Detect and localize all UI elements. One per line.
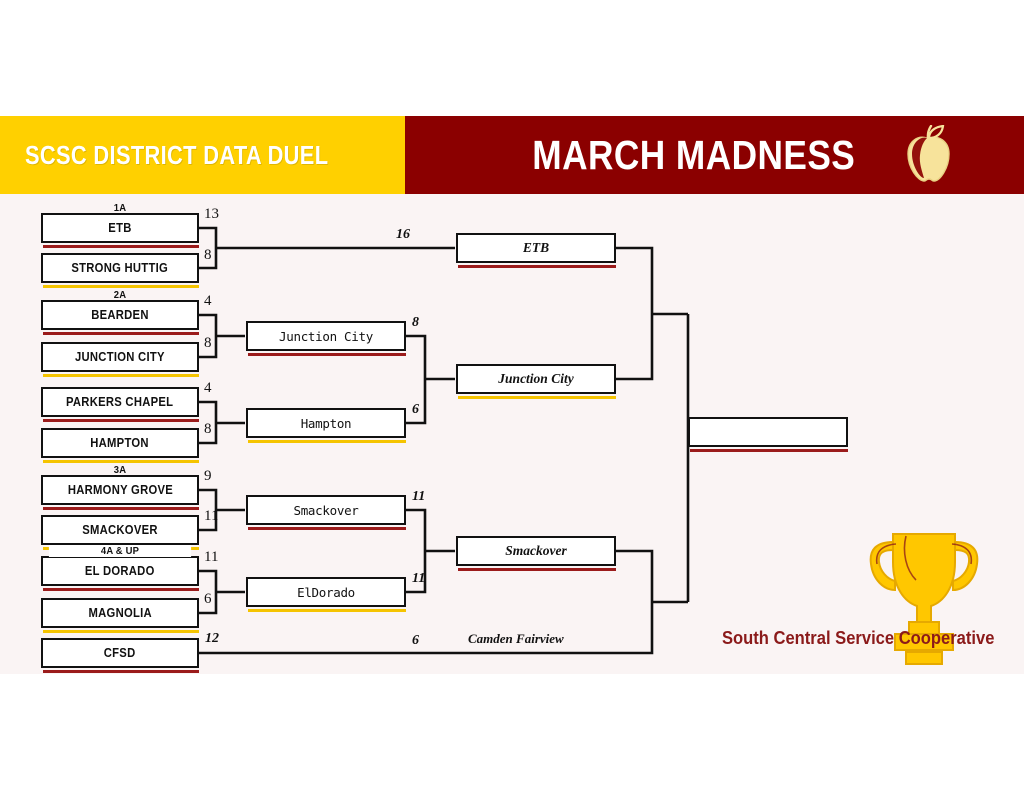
round1-score: 11	[204, 508, 218, 525]
round1-team-box[interactable]: STRONG HUTTIG	[41, 253, 199, 283]
round1-team-box[interactable]: EL DORADO	[41, 556, 199, 586]
team-name: PARKERS CHAPEL	[66, 395, 173, 409]
division-tag-4a-and-up: 4A & UP	[49, 545, 191, 557]
round1-score: 4	[204, 293, 212, 310]
round1-team-box[interactable]: BEARDEN	[41, 300, 199, 330]
round1-score: 11	[204, 549, 218, 566]
round1-team-box[interactable]: MAGNOLIA	[41, 598, 199, 628]
team-name: STRONG HUTTIG	[72, 261, 169, 275]
round2-score: 11	[412, 571, 425, 587]
champion-box[interactable]	[688, 417, 848, 447]
division-tag-1a: 1A	[49, 202, 191, 214]
header-right-banner: MARCH MADNESS	[405, 116, 1024, 194]
division-tag-3a: 3A	[49, 464, 191, 476]
team-name: CFSD	[104, 646, 136, 660]
round3-team-box[interactable]: Smackover	[456, 536, 616, 566]
round1-team-box[interactable]: HAMPTON	[41, 428, 199, 458]
round1-score: 8	[204, 247, 212, 264]
header-left-title: SCSC DISTRICT DATA DUEL	[25, 140, 328, 171]
round1-score: 8	[204, 335, 212, 352]
round1-team-box[interactable]: CFSD	[41, 638, 199, 668]
round3-team-name-camden-fairview: Camden Fairview	[468, 631, 564, 647]
team-name: HAMPTON	[91, 436, 150, 450]
team-name: Junction City	[279, 329, 373, 344]
round1-score: 9	[204, 468, 212, 485]
round3-team-box[interactable]: ETB	[456, 233, 616, 263]
round1-score: 13	[204, 206, 219, 223]
bracket-area: 1A 2A 3A 4A & UP ETB STRONG HUTTIG BEARD…	[0, 194, 1024, 674]
round1-score: 8	[204, 421, 212, 438]
header-left-banner: SCSC DISTRICT DATA DUEL	[0, 116, 405, 194]
round1-team-box[interactable]: PARKERS CHAPEL	[41, 387, 199, 417]
round1-team-box[interactable]: HARMONY GROVE	[41, 475, 199, 505]
team-name: ElDorado	[297, 585, 355, 600]
round2-score: 11	[412, 489, 425, 505]
cooperative-caption: South Central Service Cooperative	[722, 628, 994, 649]
round3-team-box[interactable]: Junction City	[456, 364, 616, 394]
header-right-title: MARCH MADNESS	[532, 132, 855, 179]
round3-score: 6	[412, 633, 419, 649]
round2-score: 8	[412, 315, 419, 331]
round2-team-box[interactable]: Junction City	[246, 321, 406, 351]
team-name: Hampton	[301, 416, 352, 431]
round2-team-box[interactable]: Smackover	[246, 495, 406, 525]
team-name: ETB	[108, 221, 131, 235]
team-name: Smackover	[293, 503, 358, 518]
round1-score: 4	[204, 380, 212, 397]
round1-team-box[interactable]: JUNCTION CITY	[41, 342, 199, 372]
team-name: Smackover	[505, 543, 567, 559]
division-tag-2a: 2A	[49, 289, 191, 301]
round3-score: 16	[396, 227, 410, 243]
round2-team-box[interactable]: ElDorado	[246, 577, 406, 607]
round2-score: 6	[412, 402, 419, 418]
page-header: SCSC DISTRICT DATA DUEL MARCH MADNESS	[0, 116, 1024, 194]
team-name: JUNCTION CITY	[75, 350, 165, 364]
team-name: Junction City	[498, 371, 573, 387]
round1-team-box[interactable]: ETB	[41, 213, 199, 243]
team-name: MAGNOLIA	[88, 606, 151, 620]
round1-score: 6	[204, 591, 212, 608]
round2-team-box[interactable]: Hampton	[246, 408, 406, 438]
team-name: EL DORADO	[85, 564, 155, 578]
team-name: SMACKOVER	[82, 523, 158, 537]
team-name: ETB	[523, 240, 549, 256]
round1-team-box[interactable]: SMACKOVER	[41, 515, 199, 545]
apple-icon	[896, 125, 958, 185]
round1-score: 12	[205, 631, 219, 647]
team-name: BEARDEN	[91, 308, 149, 322]
team-name: HARMONY GROVE	[67, 483, 172, 497]
